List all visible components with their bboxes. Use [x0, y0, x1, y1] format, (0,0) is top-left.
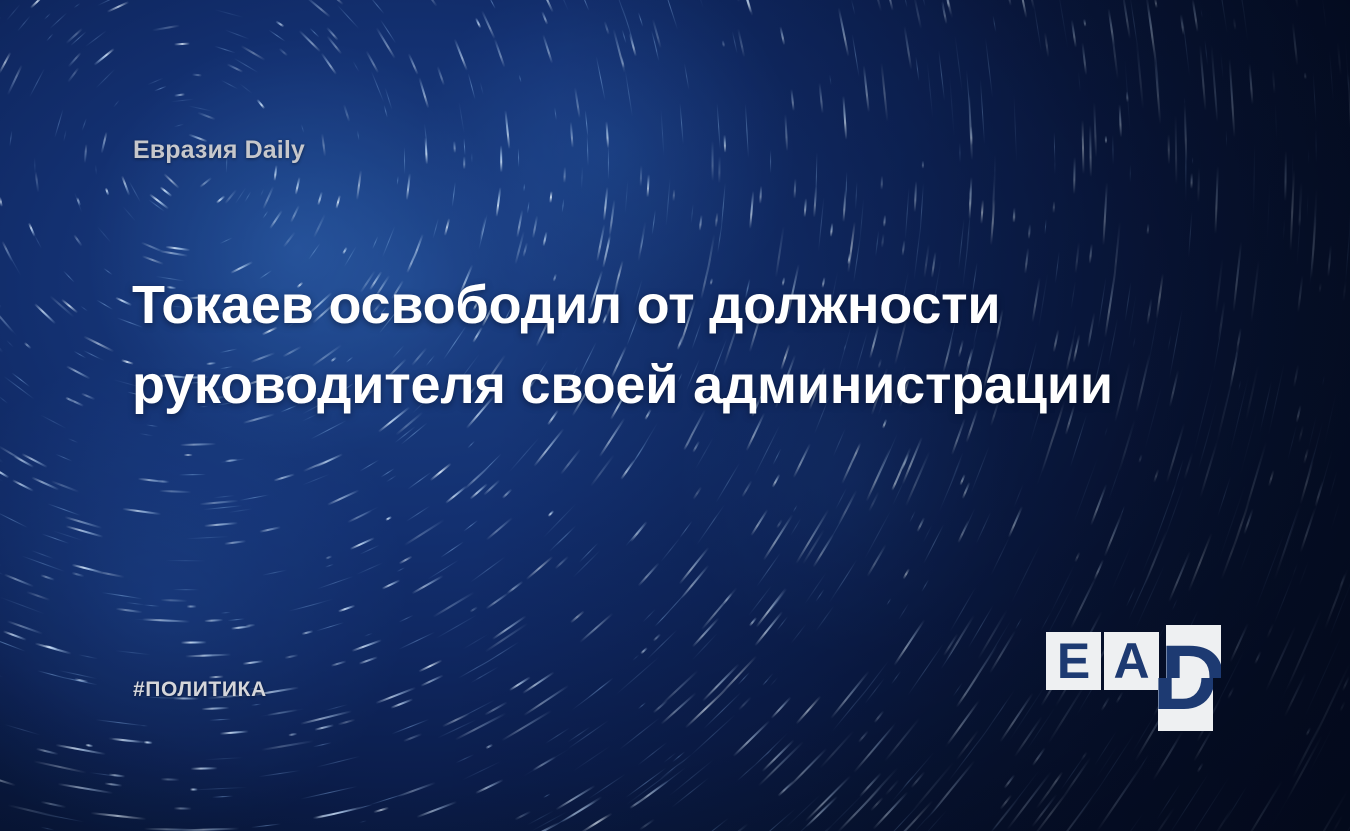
brand-logo-tile-e: E — [1046, 632, 1101, 690]
category-hashtag: #ПОЛИТИКА — [133, 678, 267, 702]
site-logo-text: Евразия Daily — [133, 136, 305, 165]
brand-letter-d-lower: D — [1158, 678, 1213, 731]
brand-letter-d-upper: D — [1166, 625, 1221, 678]
brand-letter-e: E — [1046, 632, 1101, 690]
brand-logo-tile-d-bottom: D — [1158, 678, 1213, 731]
brand-letter-a: A — [1104, 632, 1159, 690]
card-content: Евразия Daily Токаев освободил от должно… — [0, 0, 1350, 831]
brand-logo-ead: E A D D — [1046, 620, 1224, 712]
brand-logo-tile-d-top: D — [1166, 625, 1221, 678]
brand-logo-tile-a: A — [1104, 632, 1159, 690]
article-headline: Токаев освободил от должности руководите… — [132, 265, 1142, 425]
news-share-card: Евразия Daily Токаев освободил от должно… — [0, 0, 1350, 831]
